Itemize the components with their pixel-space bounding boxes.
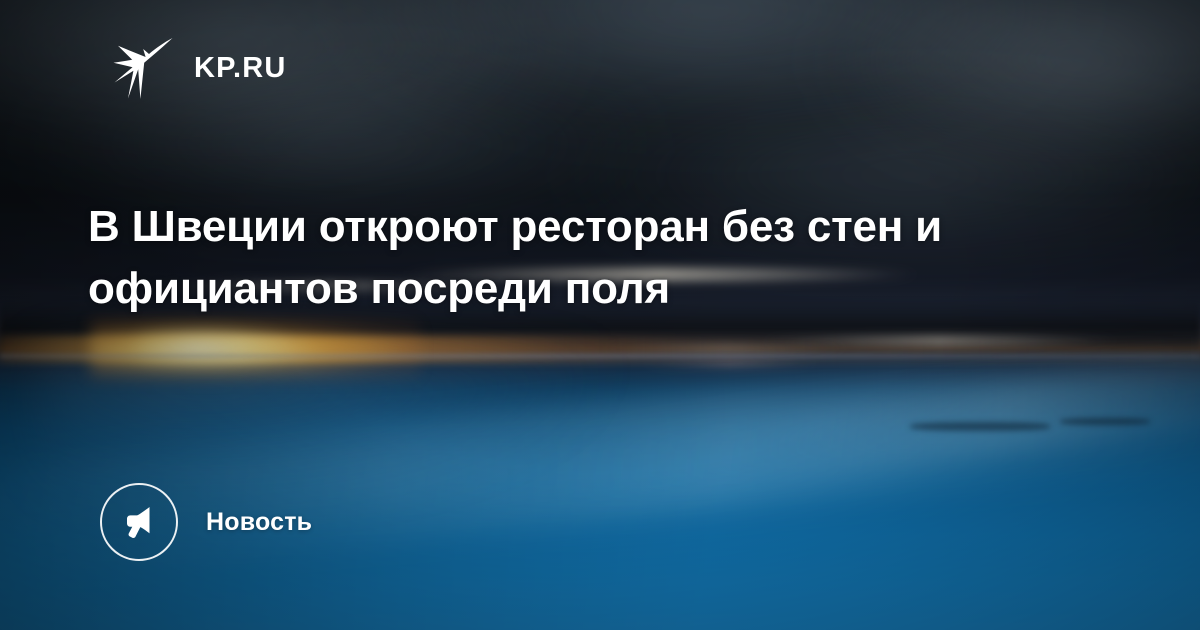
status-badge[interactable]: Новость [100,483,312,561]
swallow-bird-icon [112,36,174,100]
card-content: KP.RU В Швеции откроют ресторан без стен… [0,0,1200,630]
badge-label: Новость [206,508,312,537]
brand-logo[interactable]: KP.RU [112,36,287,100]
news-share-card: KP.RU В Швеции откроют ресторан без стен… [0,0,1200,630]
megaphone-icon [100,483,178,561]
brand-name: KP.RU [194,54,287,83]
page-title: В Швеции откроют ресторан без стен и офи… [88,196,1028,320]
